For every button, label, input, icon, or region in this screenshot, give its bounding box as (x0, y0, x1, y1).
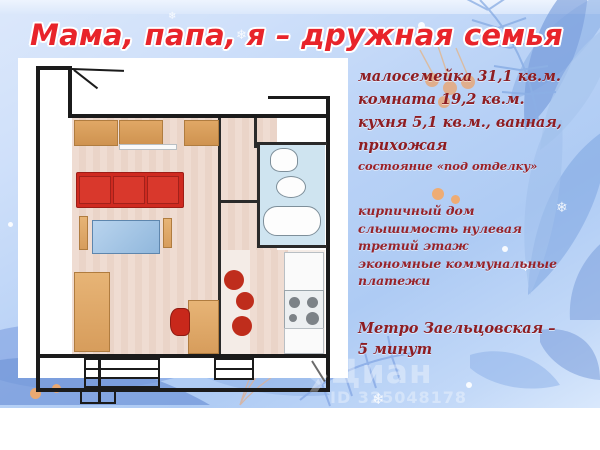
metro-info: Метро Заельцовская – 5 минут (358, 318, 600, 360)
wall-left-lower (36, 354, 40, 392)
wall-left-outer (36, 66, 40, 358)
metro-line: Метро Заельцовская – (358, 318, 600, 339)
description-line: комната 19,2 кв.м. (358, 89, 596, 110)
nightstand-right (163, 218, 172, 248)
toilet-fixture (270, 148, 298, 172)
sideboard (74, 272, 110, 352)
berry-dot (432, 188, 444, 200)
description-line: кухня 5,1 кв.м., ванная, (358, 112, 596, 133)
wardrobe-mid (119, 120, 163, 146)
wall-right-lower-jamb (326, 354, 330, 392)
snowflake-icon: ❄ (372, 392, 385, 407)
balcony-rail (86, 377, 158, 379)
background-bottom-band (0, 408, 600, 450)
kitchen-counter-lower (284, 328, 324, 354)
metro-line: 5 минут (358, 339, 600, 360)
wall-entry-top (36, 66, 72, 70)
floorplan-panel (18, 58, 348, 378)
listing-description: малосемейка 31,1 кв.м. комната 19,2 кв.м… (358, 66, 596, 174)
condition-note: состояние «под отделку» (358, 158, 596, 174)
stove-top (284, 290, 324, 330)
stove-burner (289, 314, 297, 322)
wall-right-outer (326, 96, 330, 358)
kitchen-floor-strip (250, 250, 288, 354)
nightstand-left (79, 216, 88, 250)
feature-line: платежи (358, 272, 600, 290)
description-line: прихожая (358, 135, 596, 156)
feature-line: третий этаж (358, 237, 600, 255)
wall-bath-top (257, 142, 327, 145)
armchair-red (170, 308, 190, 336)
feature-line: кирпичный дом (358, 202, 600, 220)
kitchen-decor-circle (224, 270, 244, 290)
kitchen-countertop (284, 252, 324, 292)
sofa-cushion (147, 176, 179, 204)
entry-door-leaf (72, 68, 124, 72)
entry-door-swing-arc (74, 69, 99, 89)
wardrobe-shelf (119, 144, 177, 150)
bathtub-fixture (263, 206, 321, 236)
wall-bath-bottom (257, 245, 327, 248)
corner-cabinet (188, 300, 219, 354)
slide-canvas: ❄ ❄ ❄ ❄ ❄ ❄ Мама, папа, я – дружная семь… (0, 0, 600, 450)
kitchen-decor-circle (232, 316, 252, 336)
stove-burner (306, 312, 319, 325)
sink-fixture (276, 176, 306, 198)
floorplan-drawing (18, 58, 348, 378)
feature-line: экономные коммунальные (358, 255, 600, 273)
wall-right-lower (284, 354, 330, 357)
bed (92, 220, 160, 254)
page-title: Мама, папа, я – дружная семья (30, 18, 570, 52)
balcony-rail (216, 368, 252, 370)
wall-top-right-stub (268, 96, 330, 99)
wall-bottom-lower (36, 388, 330, 392)
kitchen-decor-circle (236, 292, 254, 310)
snow-dot (466, 382, 472, 388)
stove-burner (289, 297, 300, 308)
stove-burner (307, 297, 318, 308)
wardrobe-right (184, 120, 219, 146)
sofa-cushion (113, 176, 145, 204)
description-line: малосемейка 31,1 кв.м. (358, 66, 596, 87)
snow-dot (8, 222, 13, 227)
balcony-rail (86, 368, 158, 370)
balcony-left (84, 358, 160, 388)
wall-entry-jamb (68, 66, 72, 116)
feature-line: слышимость нулевая (358, 220, 600, 238)
sofa-cushion (79, 176, 111, 204)
listing-features: кирпичный дом слышимость нулевая третий … (358, 202, 600, 290)
wall-bath-left (257, 142, 260, 248)
wall-hall-divider (221, 200, 257, 203)
wardrobe-left (74, 120, 118, 146)
